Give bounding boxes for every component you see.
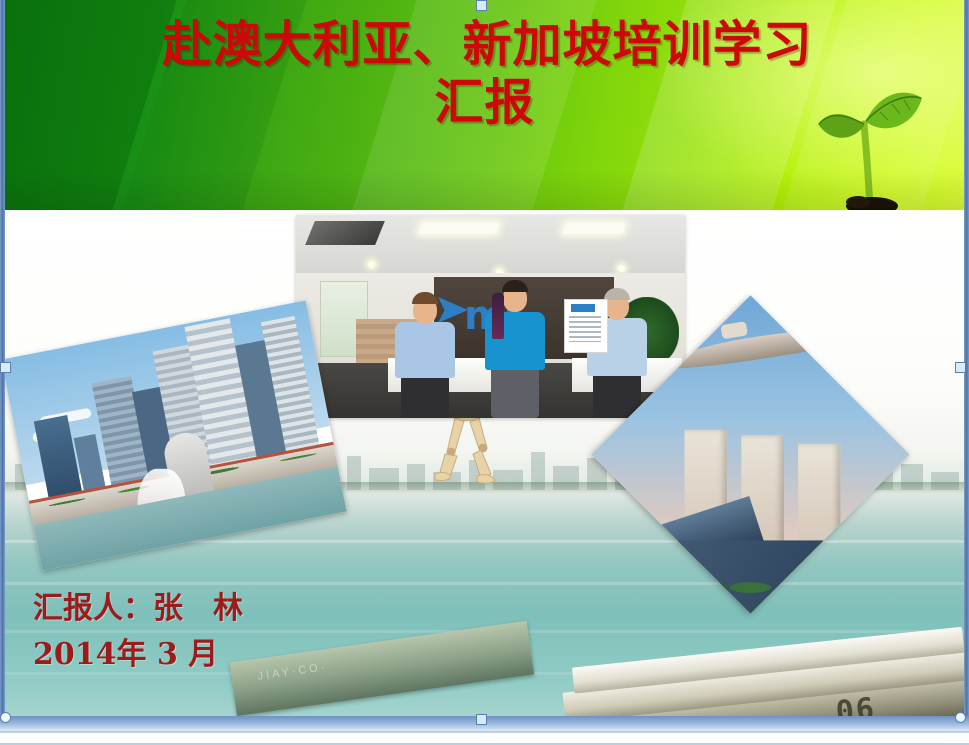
slide-outer-divider: [0, 731, 969, 745]
ceiling-vent: [305, 221, 385, 245]
presenter-text-block[interactable]: 汇报人：张 林 2014年 3 月: [33, 586, 243, 678]
resize-handle-bottom-right[interactable]: [955, 712, 966, 723]
person-hair: [502, 280, 528, 292]
person-legs: [491, 368, 539, 418]
presenter-name: 汇报人：张 林: [33, 586, 243, 632]
slide-editing-frame: 06 JIAY·CO·: [0, 0, 969, 745]
resize-handle-top[interactable]: [476, 0, 487, 11]
person-shirt: [395, 322, 455, 378]
downlight: [368, 261, 375, 268]
wine-bottle: [492, 293, 504, 339]
office-award-photo[interactable]: mi: [296, 215, 685, 418]
resize-handle-left[interactable]: [0, 362, 11, 373]
presenter-date: 2014年 3 月: [33, 632, 243, 678]
person-left: [382, 268, 468, 418]
person-hair: [412, 292, 438, 304]
certificate-logo: [571, 304, 595, 312]
person-middle: [472, 260, 558, 418]
resize-handle-right[interactable]: [955, 362, 966, 373]
ceiling-light: [562, 223, 625, 234]
resize-handle-bottom[interactable]: [476, 714, 487, 725]
certificate: [564, 299, 608, 353]
green-header-banner: [5, 0, 964, 210]
banner-shade: [5, 170, 964, 210]
ceiling-light: [418, 223, 499, 234]
book-slab: JIAY·CO·: [229, 621, 534, 716]
book-slab-text: JIAY·CO·: [257, 661, 328, 683]
slide-canvas[interactable]: 06 JIAY·CO·: [5, 0, 964, 716]
resize-handle-bottom-left[interactable]: [0, 712, 11, 723]
book-spine-number: 06: [834, 691, 878, 716]
certificate-text-lines: [569, 316, 601, 342]
person-legs: [401, 376, 449, 418]
